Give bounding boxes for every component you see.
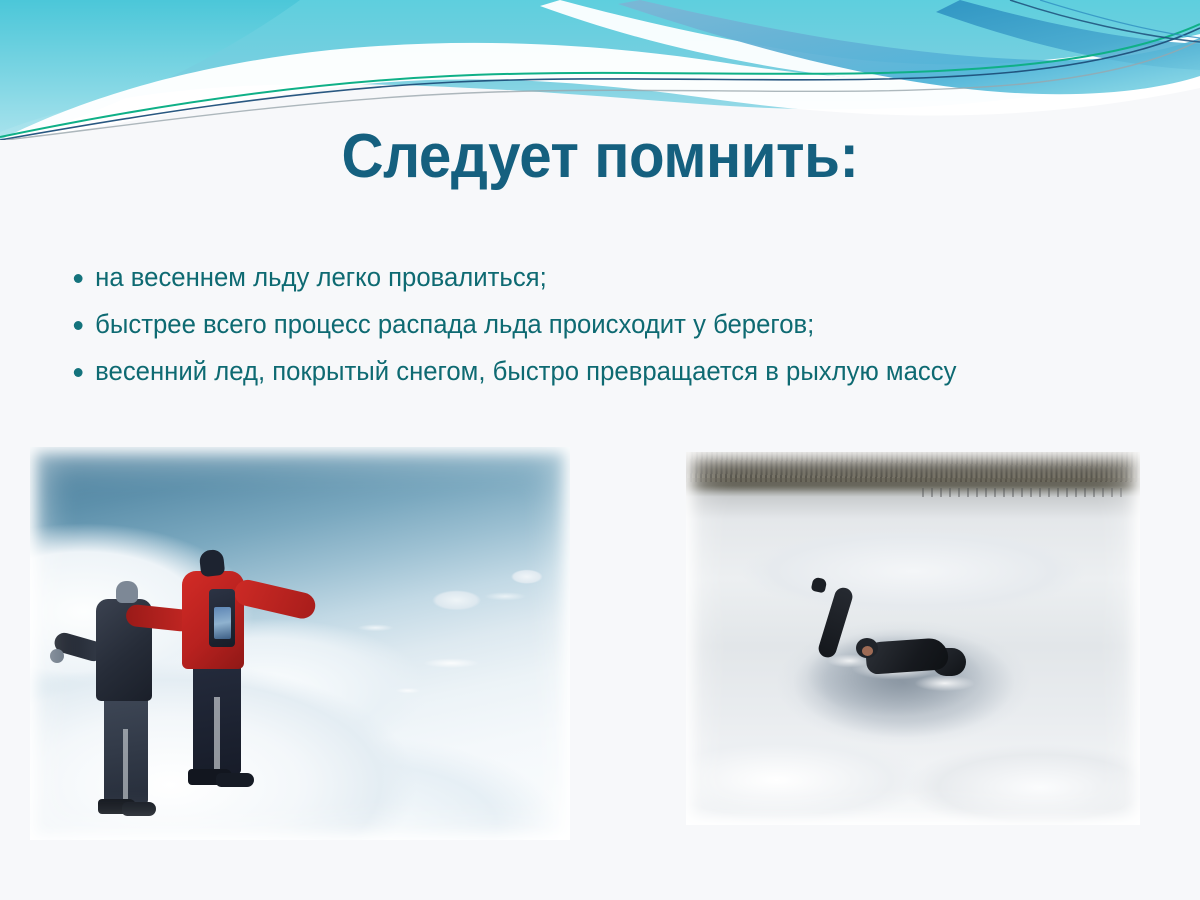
wave-ribbon-graphic [0,0,1200,140]
person-dark-boot-right [122,802,156,816]
header-wave-decoration [0,0,1200,140]
list-item: весенний лед, покрытый снегом, быстро пр… [68,352,1125,391]
list-item-text: весенний лед, покрытый снегом, быстро пр… [95,356,956,386]
photo-ice-shore-scene [30,447,570,840]
person-red-boot-right [216,773,254,787]
distant-specks [922,488,1122,497]
person-raised-arm [816,586,854,660]
photo-ice-shore [30,447,570,840]
bullet-dot-icon [74,368,83,377]
person-red-hat [199,549,226,577]
bullet-dot-icon [74,321,83,330]
list-item-text: быстрее всего процесс распада льда проис… [95,309,814,339]
bullet-list: на весеннем льду легко провалиться; быст… [68,258,1158,399]
page-title: Следует помнить: [342,124,859,189]
person-red-arm-right [232,577,318,621]
person-dark-head [116,581,138,603]
list-item: быстрее всего процесс распада льда проис… [68,305,1125,344]
presentation-slide: Следует помнить: на весеннем льду легко … [0,0,1200,900]
person-raised-hand [811,577,828,594]
title-container: Следует помнить: [0,124,1200,189]
bullet-dot-icon [74,274,83,283]
person-red-backpack-tag [214,607,231,639]
photo-ice-hole-scene [686,452,1140,825]
person-dark-leg-gap [123,729,128,799]
person-dark-hand [50,649,64,663]
person-red-leg-gap [214,697,220,769]
person-torso [865,637,949,675]
list-item: на весеннем льду легко провалиться; [68,258,1125,297]
person-face [862,646,873,656]
photo-ice-hole [686,452,1140,825]
list-item-text: на весеннем льду легко провалиться; [95,262,547,292]
